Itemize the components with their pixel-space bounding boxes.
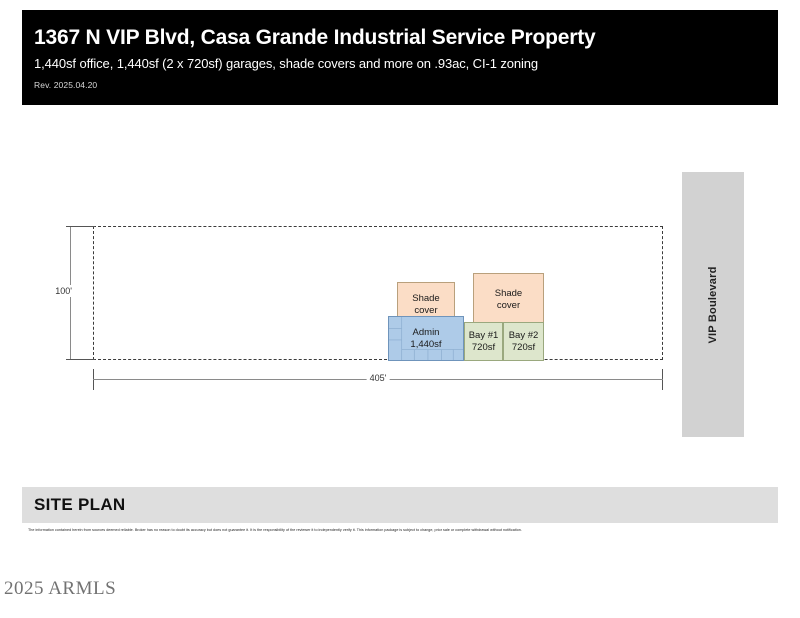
shade-cover-east: Shade cover <box>473 273 544 327</box>
block-label-line1: Bay #2 <box>509 330 539 342</box>
armls-watermark: 2025 ARMLS <box>4 578 116 600</box>
page-title: 1367 N VIP Blvd, Casa Grande Industrial … <box>34 26 778 50</box>
site-plan-drawing: VIP Boulevard 100' 405' Shade cover Shad… <box>0 105 800 460</box>
property-boundary <box>93 226 663 360</box>
bay-1: Bay #1 720sf <box>464 322 503 361</box>
block-label-line2: cover <box>497 300 520 312</box>
block-label-line2: 720sf <box>472 342 495 354</box>
frontage-dimension-label: 405' <box>367 373 390 383</box>
block-label-line1: Shade <box>412 293 439 305</box>
page-subtitle: 1,440sf office, 1,440sf (2 x 720sf) gara… <box>34 56 778 71</box>
block-label-line2: cover <box>414 305 437 317</box>
block-label-line1: Bay #1 <box>469 330 499 342</box>
vip-boulevard-band: VIP Boulevard <box>682 172 744 437</box>
admin-building: Admin 1,440sf <box>388 316 464 361</box>
footer-title: SITE PLAN <box>34 495 126 515</box>
street-label: VIP Boulevard <box>707 266 719 343</box>
block-label-line2: 1,440sf <box>410 339 441 351</box>
footer-banner <box>22 487 778 523</box>
disclaimer-text: The information contained herein from so… <box>28 528 780 533</box>
block-label-line2: 720sf <box>512 342 535 354</box>
revision-date: Rev. 2025.04.20 <box>34 80 778 90</box>
header-banner: 1367 N VIP Blvd, Casa Grande Industrial … <box>22 10 778 105</box>
block-label-line1: Admin <box>413 327 440 339</box>
depth-dimension-label: 100' <box>53 285 74 297</box>
bay-2: Bay #2 720sf <box>503 322 544 361</box>
block-label-line1: Shade <box>495 288 522 300</box>
